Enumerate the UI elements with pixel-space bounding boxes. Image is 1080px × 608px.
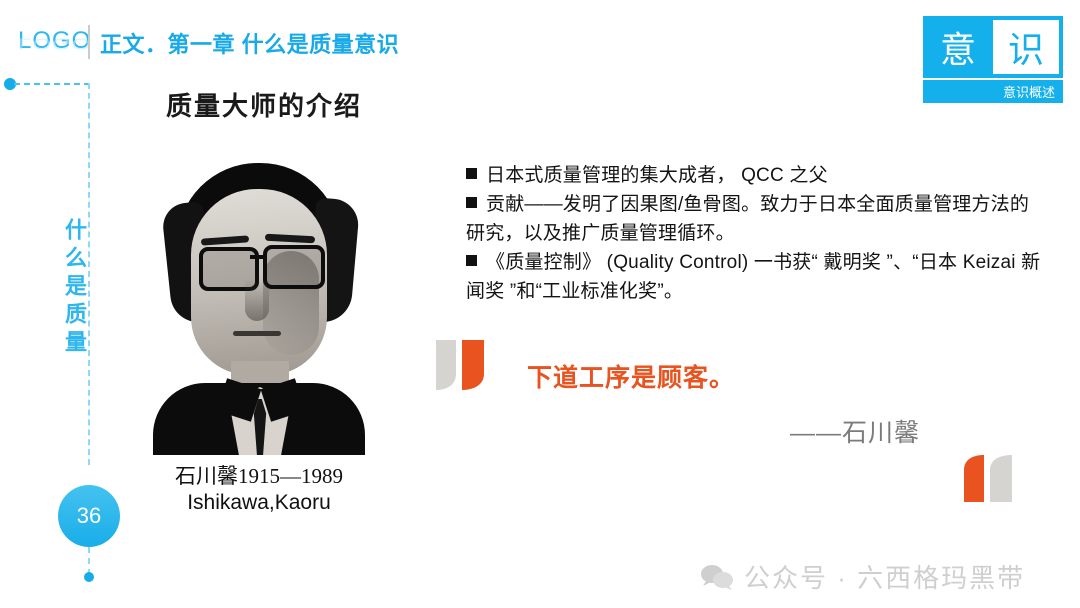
bullet-square-icon	[466, 197, 477, 208]
header-title: 正文．第一章 什么是质量意识	[100, 27, 399, 59]
rail-vertical-dashed-line	[88, 83, 90, 465]
rail-horizontal-dashed-line	[14, 83, 90, 85]
portrait-nose	[245, 279, 269, 321]
list-item: 日本式质量管理的集大成者， QCC 之父	[466, 162, 1046, 191]
footer-watermark: 公众号 · 六西格玛黑带	[700, 558, 1025, 595]
badge-char-first: 意	[923, 16, 993, 78]
quote-open-icon	[432, 334, 494, 396]
portrait-photo	[153, 155, 365, 455]
bullet-square-icon	[466, 168, 477, 179]
list-item-text: 日本式质量管理的集大成者， QCC 之父	[486, 165, 828, 186]
photo-caption: 石川馨1915—1989 Ishikawa,Kaoru	[153, 463, 365, 517]
sidebar-vertical-label: 什么是质量	[55, 218, 85, 358]
quote-attribution: ——石川馨	[790, 413, 920, 449]
watermark-text: 公众号 · 六西格玛黑带	[744, 558, 1025, 595]
caption-line-1: 石川馨1915—1989	[153, 463, 365, 490]
list-item-text: 《质量控制》 (Quality Control) 一书获“ 戴明奖 ”、“日本 …	[466, 252, 1040, 302]
page-number-badge: 36	[58, 485, 120, 547]
quote-close-icon	[962, 452, 1018, 508]
header-divider	[88, 25, 90, 59]
logo: LOGO	[18, 27, 91, 55]
list-item: 《质量控制》 (Quality Control) 一书获“ 戴明奖 ”、“日本 …	[466, 249, 1046, 307]
list-item: 贡献——发明了因果图/鱼骨图。致力于日本全面质量管理方法的研究，以及推广质量管理…	[466, 191, 1046, 249]
rail-vertical-dashed-line-lower	[88, 547, 90, 575]
slide-root: LOGO LOGO 正文．第一章 什么是质量意识 意 识 意识概述 什么是质量 …	[0, 0, 1080, 608]
bullet-list: 日本式质量管理的集大成者， QCC 之父 贡献——发明了因果图/鱼骨图。致力于日…	[466, 162, 1046, 306]
portrait-glasses-right	[263, 245, 325, 289]
rail-dot-bottom-icon	[84, 572, 94, 582]
page-title: 质量大师的介绍	[166, 86, 362, 123]
portrait-mouth	[233, 331, 281, 336]
caption-line-2: Ishikawa,Kaoru	[153, 490, 365, 517]
badge-char-second: 识	[993, 20, 1059, 74]
wechat-icon	[700, 564, 734, 590]
portrait-glasses-bridge	[250, 255, 266, 259]
bullet-square-icon	[466, 255, 477, 266]
chapter-badge: 意 识	[923, 16, 1063, 78]
quote-text: 下道工序是顾客。	[527, 358, 735, 394]
list-item-text: 贡献——发明了因果图/鱼骨图。致力于日本全面质量管理方法的研究，以及推广质量管理…	[466, 194, 1029, 244]
badge-subtitle: 意识概述	[923, 80, 1063, 103]
